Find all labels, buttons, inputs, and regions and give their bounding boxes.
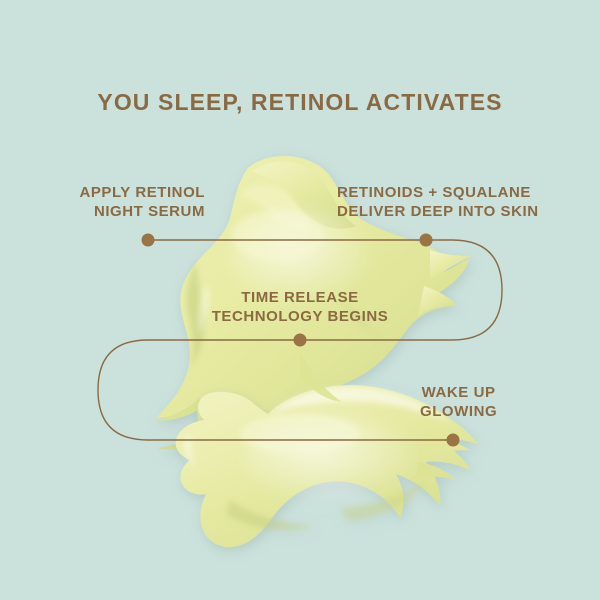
callout-wake-up-glowing: WAKE UP GLOWING xyxy=(420,383,497,421)
callout-wake-up-glowing-line1: WAKE UP xyxy=(422,384,496,401)
callout-retinoids-squalane: RETINOIDS + SQUALANE DELIVER DEEP INTO S… xyxy=(337,183,539,221)
callout-apply-retinol-line2: NIGHT SERUM xyxy=(79,202,205,221)
callout-time-release-line1: TIME RELEASE xyxy=(241,289,358,306)
callout-retinoids-squalane-line1: RETINOIDS + SQUALANE xyxy=(337,184,531,201)
callout-time-release: TIME RELEASE TECHNOLOGY BEGINS xyxy=(0,288,600,326)
callout-time-release-line2: TECHNOLOGY BEGINS xyxy=(0,307,600,326)
callout-wake-up-glowing-line2: GLOWING xyxy=(420,402,497,421)
callout-apply-retinol: APPLY RETINOL NIGHT SERUM xyxy=(79,183,205,221)
retinol-infographic: YOU SLEEP, RETINOL ACTIVATES APPLY RETIN… xyxy=(0,0,600,600)
marker-time-release[interactable] xyxy=(294,334,307,347)
marker-apply-retinol[interactable] xyxy=(142,234,155,247)
marker-retinoids-squalane[interactable] xyxy=(420,234,433,247)
marker-wake-up-glowing[interactable] xyxy=(447,434,460,447)
callout-retinoids-squalane-line2: DELIVER DEEP INTO SKIN xyxy=(337,202,539,221)
callout-apply-retinol-line1: APPLY RETINOL xyxy=(79,184,205,201)
